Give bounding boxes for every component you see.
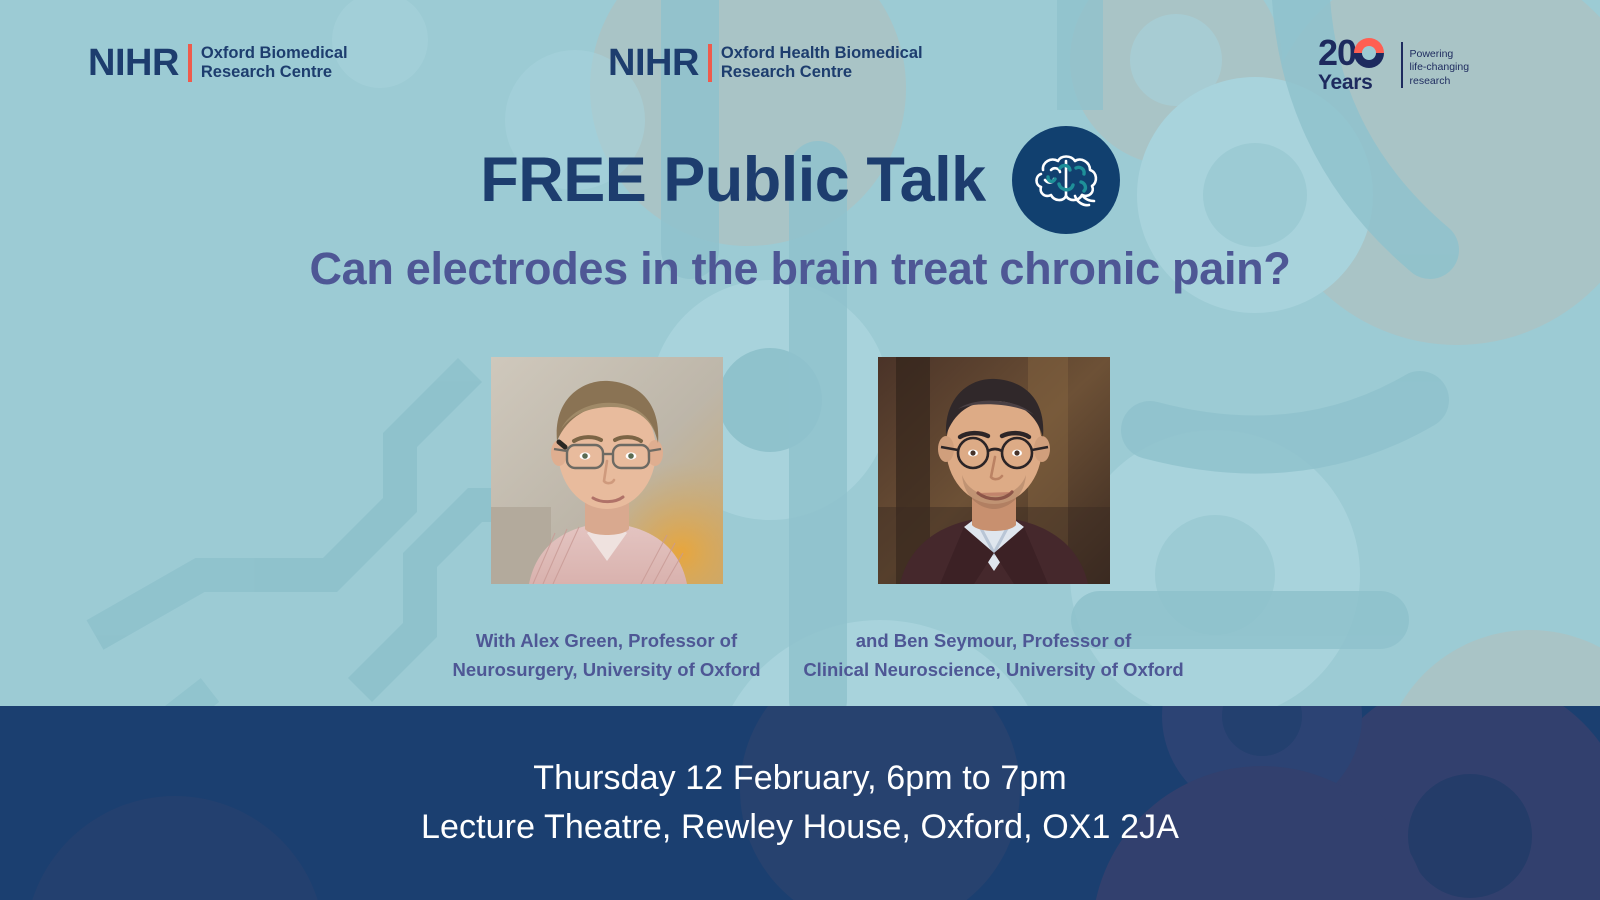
twenty-years-word: Years [1318,72,1396,93]
tagline-line2: life-changing [1410,61,1470,73]
nihr-centre-line1: Oxford Health Biomedical [721,44,923,62]
event-details-banner: Thursday 12 February, 6pm to 7pm Lecture… [0,706,1600,900]
nihr-oxford-biomedical-research-centre-logo: NIHR Oxford Biomedical Research Centre [88,44,348,83]
nihr-centre-name: Oxford Biomedical Research Centre [201,44,348,83]
page-title: FREE Public Talk [480,149,985,212]
nihr-centre-line2: Research Centre [201,63,332,81]
nihr-acronym: NIHR [88,44,179,82]
twenty-years-number: 20 [1318,35,1356,71]
twenty-years-number-row: 20 [1318,36,1396,70]
logo-row: NIHR Oxford Biomedical Research Centre N… [0,0,1600,120]
speaker-ben-seymour: and Ben Seymour, Professor of Clinical N… [878,357,1110,684]
ben-seymour-portrait [878,357,1110,584]
speaker-caption: With Alex Green, Professor of Neurosurge… [452,626,760,684]
caption-line2: Clinical Neuroscience, University of Oxf… [803,659,1183,680]
caption-line2: Neurosurgery, University of Oxford [452,659,760,680]
speakers-section: With Alex Green, Professor of Neurosurge… [0,357,1600,684]
nihr-divider-bar [188,44,192,82]
alex-green-portrait [491,357,723,584]
nihr-centre-line2: Research Centre [721,63,852,81]
twenty-years-divider [1401,42,1403,88]
nihr-oxford-health-biomedical-research-centre-logo: NIHR Oxford Health Biomedical Research C… [608,44,923,83]
banner-text-block: Thursday 12 February, 6pm to 7pm Lecture… [0,706,1600,900]
caption-line1: With Alex Green, Professor of [476,630,737,651]
twenty-years-mark: 20 Years [1318,36,1396,93]
nihr-centre-line1: Oxford Biomedical [201,44,348,62]
brain-icon [1012,126,1120,234]
event-datetime: Thursday 12 February, 6pm to 7pm [533,759,1067,798]
nihr-20-years-anniversary-logo: 20 Years Powering life-changing research [1318,36,1469,93]
nihr-acronym: NIHR [608,44,699,82]
tagline-line1: Powering [1410,48,1454,60]
nihr-divider-bar [708,44,712,82]
caption-line1: and Ben Seymour, Professor of [856,630,1132,651]
page-subtitle: Can electrodes in the brain treat chroni… [0,243,1600,295]
headline-row: FREE Public Talk [0,126,1600,234]
tagline-line3: research [1410,75,1451,87]
twenty-years-tagline: Powering life-changing research [1410,48,1470,88]
speaker-caption: and Ben Seymour, Professor of Clinical N… [803,626,1183,684]
nihr-centre-name: Oxford Health Biomedical Research Centre [721,44,923,83]
event-location: Lecture Theatre, Rewley House, Oxford, O… [421,808,1179,847]
speaker-alex-green: With Alex Green, Professor of Neurosurge… [491,357,723,684]
twenty-years-ring-icon [1354,38,1384,68]
